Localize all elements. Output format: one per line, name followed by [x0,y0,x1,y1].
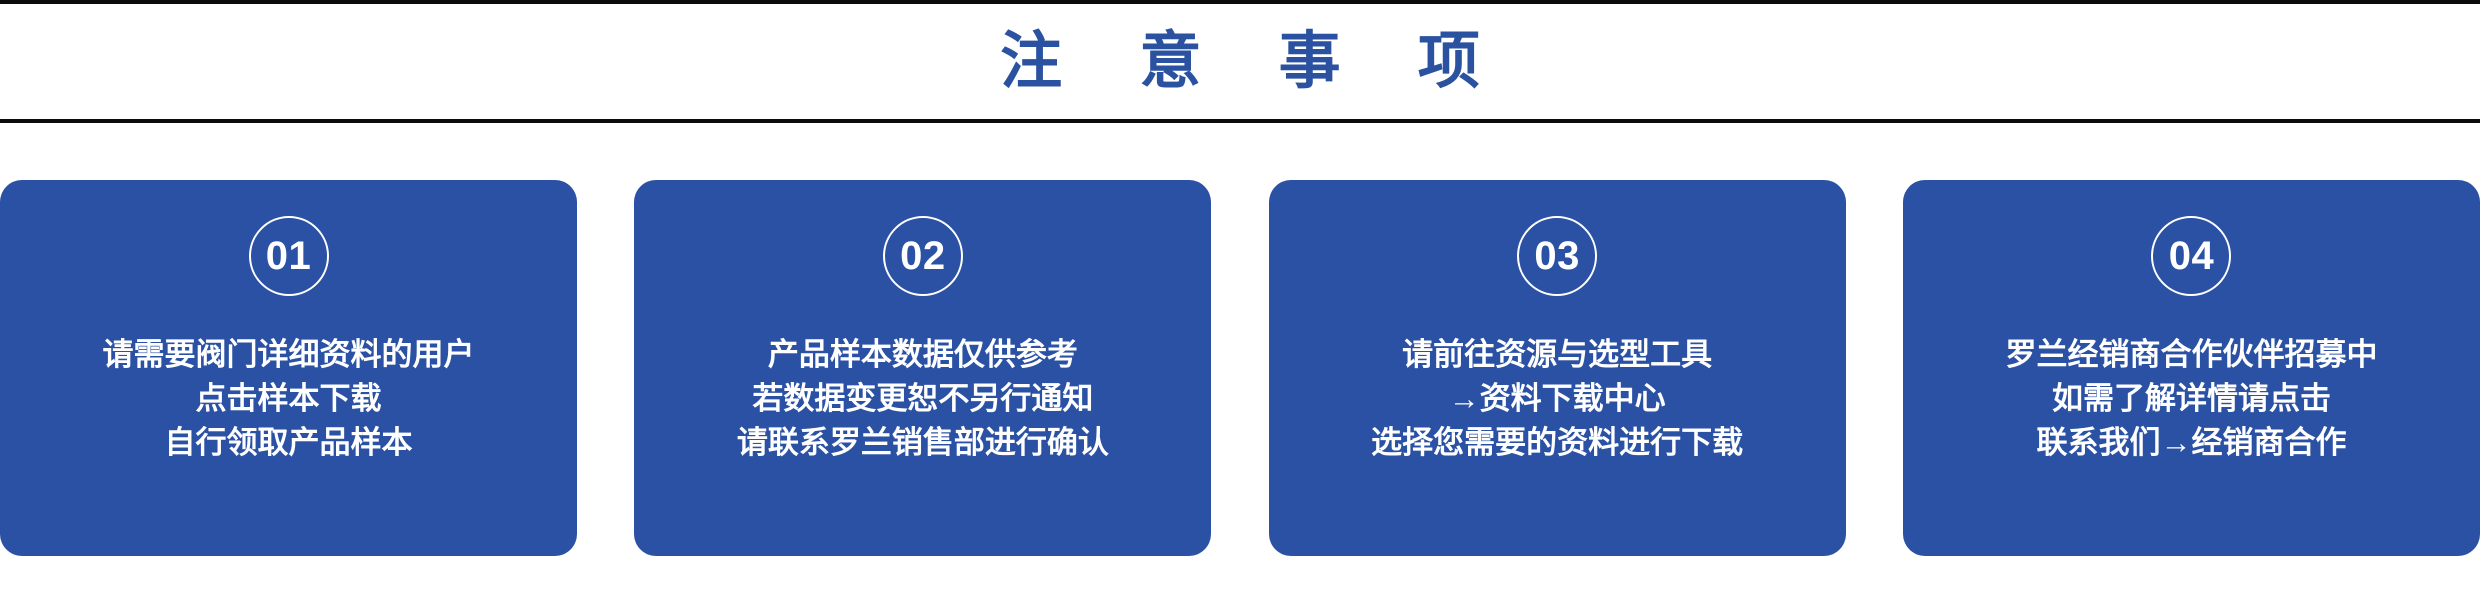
step-number-label: 02 [900,236,946,276]
notice-card-text-02: 产品样本数据仅供参考 若数据变更恕不另行通知 请联系罗兰销售部进行确认 [634,333,1211,465]
notice-card-row: 01 请需要阀门详细资料的用户 点击样本下载 自行领取产品样本 02 产品样本数… [0,180,2480,556]
step-number-label: 03 [1534,236,1580,276]
notice-line-3: 请联系罗兰销售部进行确认 [737,421,1109,465]
notice-card-03[interactable]: 03 请前往资源与选型工具 →资料下载中心 选择您需要的资料进行下载 [1269,180,1846,556]
step-number-label: 04 [2169,236,2215,276]
notice-line-2: 点击样本下载 [196,377,382,421]
step-number-badge-02: 02 [883,216,963,296]
notice-line-3: 联系我们→经销商合作 [2036,421,2346,465]
notice-line-1: 请前往资源与选型工具 [1402,333,1712,377]
step-number-badge-03: 03 [1517,216,1597,296]
notice-line-2: →资料下载中心 [1449,377,1666,421]
step-number-badge-01: 01 [249,216,329,296]
notice-line-3: 选择您需要的资料进行下载 [1371,421,1743,465]
notice-card-text-03: 请前往资源与选型工具 →资料下载中心 选择您需要的资料进行下载 [1269,333,1846,465]
header-divider-rule [0,119,2480,123]
step-number-label: 01 [266,236,312,276]
notice-line-3: 自行领取产品样本 [165,421,413,465]
notice-page: 注 意 事 项 01 请需要阀门详细资料的用户 点击样本下载 自行领取产品样本 … [0,0,2480,591]
notice-line-2: 如需了解详情请点击 [2052,377,2331,421]
page-title: 注 意 事 项 [970,31,1510,93]
notice-line-1: 产品样本数据仅供参考 [768,333,1078,377]
notice-line-2: 若数据变更恕不另行通知 [752,377,1093,421]
notice-card-04[interactable]: 04 罗兰经销商合作伙伴招募中 如需了解详情请点击 联系我们→经销商合作 [1903,180,2480,556]
notice-line-1: 罗兰经销商合作伙伴招募中 [2005,333,2377,377]
notice-card-02[interactable]: 02 产品样本数据仅供参考 若数据变更恕不另行通知 请联系罗兰销售部进行确认 [634,180,1211,556]
page-header: 注 意 事 项 [0,4,2480,119]
notice-line-1: 请需要阀门详细资料的用户 [103,333,475,377]
step-number-badge-04: 04 [2151,216,2231,296]
notice-card-01[interactable]: 01 请需要阀门详细资料的用户 点击样本下载 自行领取产品样本 [0,180,577,556]
notice-card-text-04: 罗兰经销商合作伙伴招募中 如需了解详情请点击 联系我们→经销商合作 [1903,333,2480,465]
notice-card-text-01: 请需要阀门详细资料的用户 点击样本下载 自行领取产品样本 [0,333,577,465]
